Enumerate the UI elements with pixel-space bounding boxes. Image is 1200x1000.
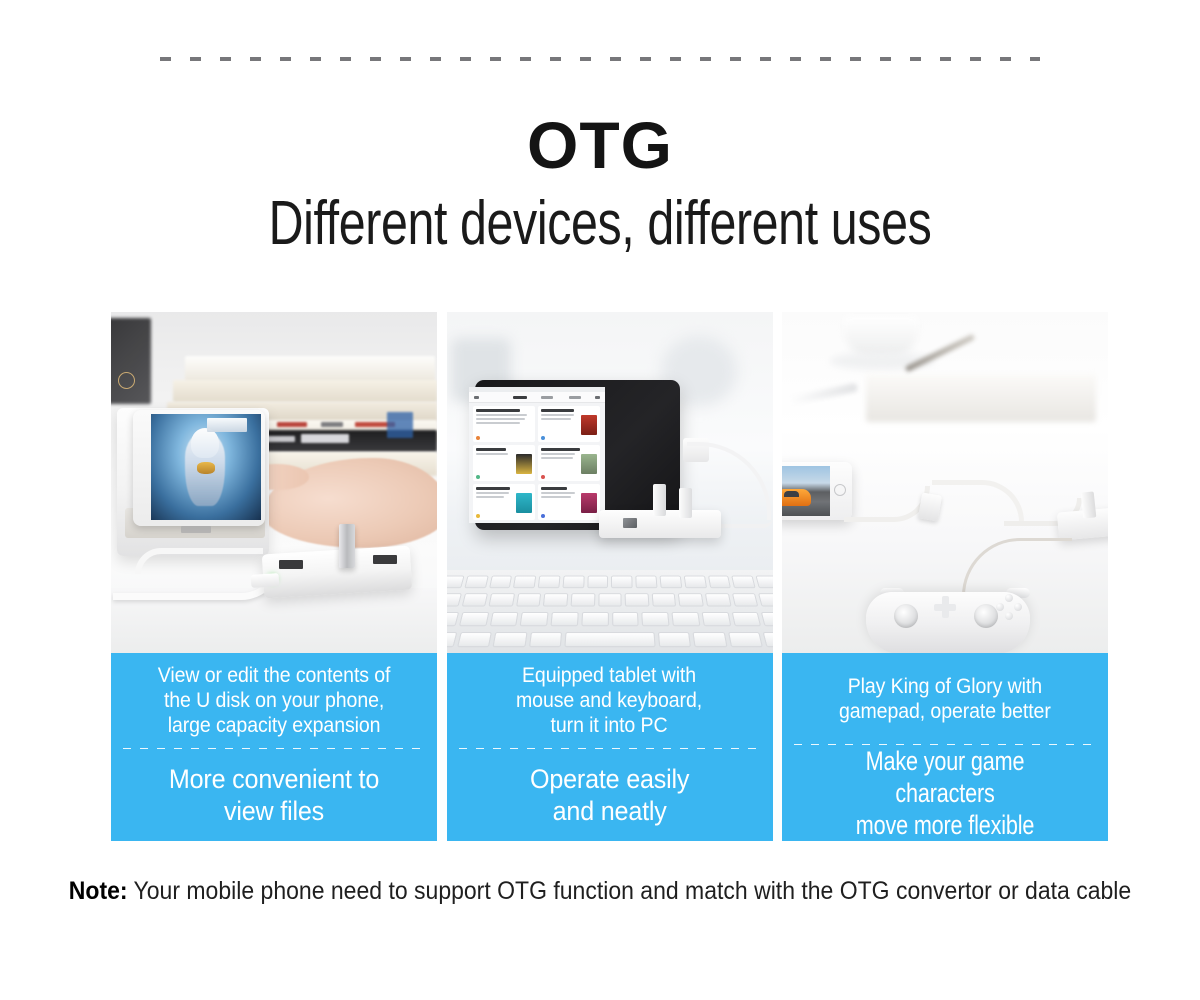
caption-bottom-text-1: More convenient to view files (169, 763, 379, 827)
page-subtitle: Different devices, different uses (132, 188, 1068, 260)
page-title: OTG (0, 108, 1200, 182)
caption-block-3: Play King of Glory with gamepad, operate… (782, 653, 1108, 841)
note-label: Note: (69, 877, 128, 905)
infographic-page: OTG Different devices, different uses (0, 0, 1200, 1000)
caption-top-text-1: View or edit the contents of the U disk … (158, 663, 391, 738)
caption-bottom-text-2: Operate easily and neatly (530, 763, 689, 827)
photo-tablet-hub-keyboard (447, 312, 773, 653)
caption-bottom-3: Make your game characters move more flex… (782, 745, 1108, 841)
caption-top-text-2: Equipped tablet with mouse and keyboard,… (516, 663, 702, 738)
photo-phone-dock-usb (111, 312, 437, 653)
feature-panel-row: View or edit the contents of the U disk … (111, 312, 1108, 841)
top-dashed-divider (160, 57, 1040, 61)
feature-panel-2[interactable]: Equipped tablet with mouse and keyboard,… (447, 312, 773, 841)
caption-dashed-divider-2 (459, 748, 761, 749)
photo-phone-gamepad-otg (782, 312, 1108, 653)
feature-panel-1[interactable]: View or edit the contents of the U disk … (111, 312, 437, 841)
note-text: Your mobile phone need to support OTG fu… (128, 877, 1132, 905)
caption-bottom-2: Operate easily and neatly (447, 749, 773, 841)
caption-bottom-1: More convenient to view files (111, 749, 437, 841)
caption-block-2: Equipped tablet with mouse and keyboard,… (447, 653, 773, 841)
header-block: OTG Different devices, different uses (0, 108, 1200, 260)
caption-top-3: Play King of Glory with gamepad, operate… (782, 653, 1108, 744)
caption-block-1: View or edit the contents of the U disk … (111, 653, 437, 841)
footer-note: Note: Your mobile phone need to support … (48, 876, 1152, 907)
feature-panel-3[interactable]: Play King of Glory with gamepad, operate… (782, 312, 1108, 841)
caption-top-2: Equipped tablet with mouse and keyboard,… (447, 653, 773, 748)
caption-dashed-divider-1 (123, 748, 425, 749)
caption-top-text-3: Play King of Glory with gamepad, operate… (839, 674, 1051, 724)
caption-bottom-text-3: Make your game characters move more flex… (819, 745, 1070, 841)
caption-top-1: View or edit the contents of the U disk … (111, 653, 437, 748)
